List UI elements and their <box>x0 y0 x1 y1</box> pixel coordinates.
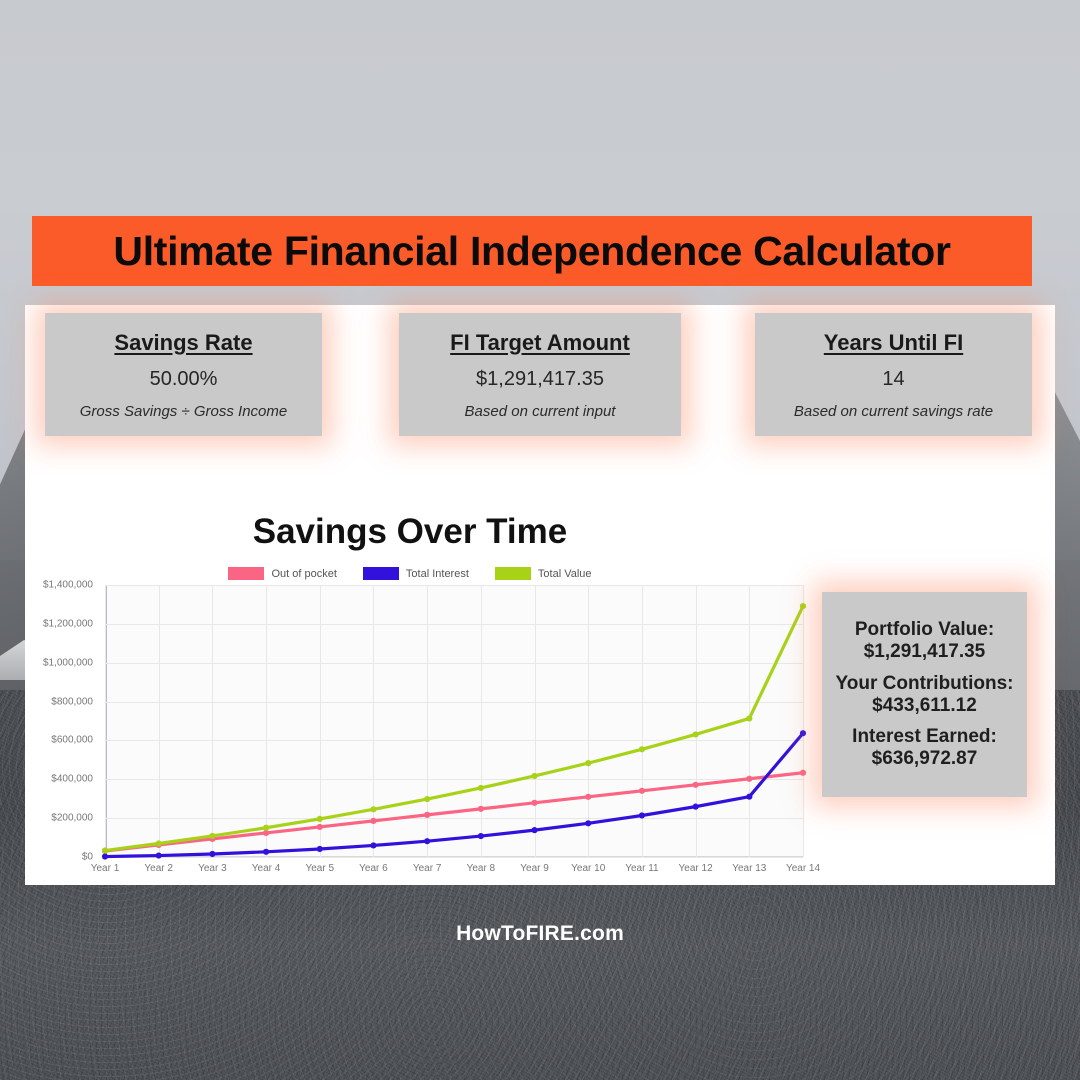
chart-data-point[interactable] <box>800 770 806 776</box>
summary-label: Portfolio Value: <box>855 619 994 641</box>
x-axis-tick-label: Year 8 <box>467 863 496 874</box>
chart-data-point[interactable] <box>639 788 645 794</box>
y-axis-tick-label: $1,400,000 <box>13 580 93 591</box>
page-title-banner: Ultimate Financial Independence Calculat… <box>32 216 1032 286</box>
y-axis-tick-label: $400,000 <box>13 774 93 785</box>
chart-data-point[interactable] <box>585 820 591 826</box>
chart-data-point[interactable] <box>693 782 699 788</box>
card-title: Years Until FI <box>824 330 963 356</box>
chart-data-point[interactable] <box>102 847 108 853</box>
chart-data-point[interactable] <box>531 827 537 833</box>
x-axis-tick-label: Year 4 <box>252 863 281 874</box>
chart-title: Savings Over Time <box>0 512 820 552</box>
chart-data-point[interactable] <box>317 824 323 830</box>
chart-data-point[interactable] <box>478 806 484 812</box>
y-axis-tick-label: $200,000 <box>13 813 93 824</box>
chart-data-point[interactable] <box>209 851 215 857</box>
legend-label: Total Interest <box>406 568 469 580</box>
chart-data-point[interactable] <box>639 812 645 818</box>
chart-data-point[interactable] <box>800 730 806 736</box>
x-axis-tick-label: Year 3 <box>198 863 227 874</box>
summary-label: Interest Earned: <box>852 726 997 748</box>
legend-label: Out of pocket <box>271 568 336 580</box>
chart-data-point[interactable] <box>370 818 376 824</box>
chart-data-point[interactable] <box>156 852 162 858</box>
metric-card-savings-rate: Savings Rate 50.00% Gross Savings ÷ Gros… <box>45 313 322 436</box>
chart-data-point[interactable] <box>102 853 108 859</box>
chart-data-point[interactable] <box>746 715 752 721</box>
page-title: Ultimate Financial Independence Calculat… <box>113 228 950 275</box>
summary-contributions: Your Contributions: $433,611.12 <box>835 673 1013 717</box>
chart-data-point[interactable] <box>585 794 591 800</box>
x-axis-tick-label: Year 6 <box>359 863 388 874</box>
metric-card-fi-target-amount: FI Target Amount $1,291,417.35 Based on … <box>399 313 681 436</box>
chart-data-point[interactable] <box>693 731 699 737</box>
chart-data-point[interactable] <box>317 816 323 822</box>
summary-value: $433,611.12 <box>835 695 1013 717</box>
card-note: Based on current input <box>465 403 616 420</box>
chart-data-point[interactable] <box>639 746 645 752</box>
summary-value: $636,972.87 <box>852 748 997 770</box>
card-note: Based on current savings rate <box>794 403 993 420</box>
chart-line-2 <box>105 606 803 850</box>
summary-value: $1,291,417.35 <box>855 641 994 663</box>
legend-item-1[interactable]: Total Interest <box>363 567 469 580</box>
chart-data-point[interactable] <box>424 796 430 802</box>
chart-data-point[interactable] <box>800 603 806 609</box>
card-value: 14 <box>882 368 904 391</box>
legend-swatch-icon <box>363 567 399 580</box>
gridline-vertical <box>803 585 804 857</box>
chart-legend: Out of pocketTotal InterestTotal Value <box>0 567 820 580</box>
metric-card-years-until-fi: Years Until FI 14 Based on current savin… <box>755 313 1032 436</box>
y-axis-tick-label: $600,000 <box>13 735 93 746</box>
x-axis-tick-label: Year 11 <box>625 863 658 874</box>
chart-data-point[interactable] <box>693 804 699 810</box>
summary-interest-earned: Interest Earned: $636,972.87 <box>852 726 997 770</box>
legend-item-2[interactable]: Total Value <box>495 567 592 580</box>
chart-data-point[interactable] <box>478 785 484 791</box>
savings-over-time-chart: $0$200,000$400,000$600,000$800,000$1,000… <box>35 585 805 885</box>
y-axis-tick-label: $1,200,000 <box>13 618 93 629</box>
chart-data-point[interactable] <box>209 833 215 839</box>
chart-data-point[interactable] <box>478 833 484 839</box>
x-axis-tick-label: Year 14 <box>786 863 820 874</box>
chart-data-point[interactable] <box>746 794 752 800</box>
chart-data-point[interactable] <box>156 840 162 846</box>
chart-data-point[interactable] <box>531 800 537 806</box>
legend-swatch-icon <box>228 567 264 580</box>
summary-label: Your Contributions: <box>835 673 1013 695</box>
chart-data-point[interactable] <box>746 776 752 782</box>
x-axis-tick-label: Year 12 <box>679 863 713 874</box>
legend-label: Total Value <box>538 568 592 580</box>
card-title: FI Target Amount <box>450 330 630 356</box>
summary-portfolio-value: Portfolio Value: $1,291,417.35 <box>855 619 994 663</box>
legend-swatch-icon <box>495 567 531 580</box>
y-axis-tick-label: $0 <box>13 852 93 863</box>
x-axis-tick-label: Year 13 <box>732 863 766 874</box>
chart-data-point[interactable] <box>424 838 430 844</box>
legend-item-0[interactable]: Out of pocket <box>228 567 336 580</box>
chart-data-point[interactable] <box>424 812 430 818</box>
x-axis-tick-label: Year 10 <box>571 863 605 874</box>
footer-site-name: HowToFIRE.com <box>0 922 1080 946</box>
chart-plot-area <box>105 585 803 857</box>
card-value: 50.00% <box>150 368 218 391</box>
chart-series-layer <box>105 585 803 857</box>
card-value: $1,291,417.35 <box>476 368 604 391</box>
card-note: Gross Savings ÷ Gross Income <box>80 403 287 420</box>
chart-data-point[interactable] <box>317 846 323 852</box>
y-axis-tick-label: $1,000,000 <box>13 657 93 668</box>
summary-box: Portfolio Value: $1,291,417.35 Your Cont… <box>822 592 1027 797</box>
gridline-horizontal <box>105 857 803 858</box>
chart-data-point[interactable] <box>263 849 269 855</box>
chart-data-point[interactable] <box>263 825 269 831</box>
chart-data-point[interactable] <box>370 842 376 848</box>
x-axis-tick-label: Year 2 <box>144 863 173 874</box>
x-axis-tick-label: Year 5 <box>305 863 334 874</box>
x-axis-tick-label: Year 7 <box>413 863 442 874</box>
chart-data-point[interactable] <box>370 806 376 812</box>
chart-data-point[interactable] <box>585 760 591 766</box>
y-axis-tick-label: $800,000 <box>13 696 93 707</box>
x-axis-tick-label: Year 9 <box>520 863 549 874</box>
card-title: Savings Rate <box>114 330 252 356</box>
chart-data-point[interactable] <box>531 773 537 779</box>
x-axis-tick-label: Year 1 <box>91 863 120 874</box>
